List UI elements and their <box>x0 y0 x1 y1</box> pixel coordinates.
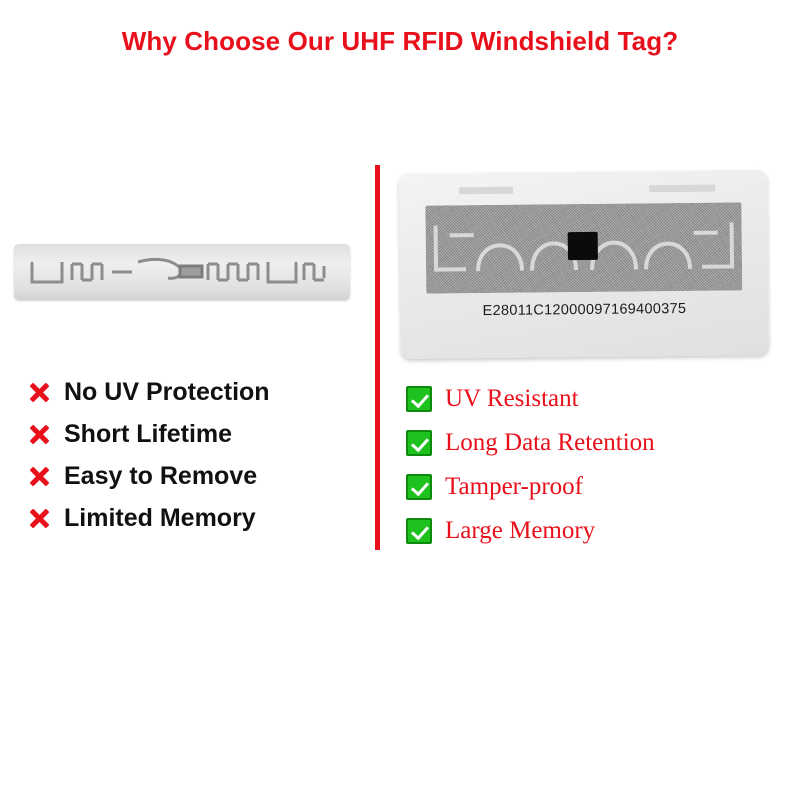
list-item-label: No UV Protection <box>64 378 270 407</box>
comparison-infographic: Why Choose Our UHF RFID Windshield Tag? <box>0 0 800 800</box>
list-item-label: Short Lifetime <box>64 420 232 449</box>
list-item-label: Long Data Retention <box>445 429 655 457</box>
list-item: Easy to Remove <box>26 459 356 493</box>
x-mark-icon <box>26 463 52 489</box>
windshield-tag-image: E28011C12000097169400375 <box>400 172 780 362</box>
uhf-rfid-windshield-tag: E28011C12000097169400375 <box>399 170 769 359</box>
left-column: No UV Protection Short Lifetime Easy to … <box>0 160 375 560</box>
list-item-label: Easy to Remove <box>64 462 257 491</box>
drawbacks-list: No UV Protection Short Lifetime Easy to … <box>26 375 356 543</box>
x-mark-icon <box>26 505 52 531</box>
list-item-label: UV Resistant <box>445 385 579 413</box>
list-item: Short Lifetime <box>26 417 356 451</box>
x-mark-icon <box>26 379 52 405</box>
list-item-label: Large Memory <box>445 517 595 545</box>
plain-rfid-inlay-tag <box>14 244 350 300</box>
check-mark-icon <box>406 518 432 544</box>
check-mark-icon <box>406 430 432 456</box>
list-item: Tamper-proof <box>406 470 796 504</box>
plain-tag-image <box>14 222 358 314</box>
benefits-list: UV Resistant Long Data Retention Tamper-… <box>406 382 796 558</box>
list-item-label: Limited Memory <box>64 504 256 533</box>
check-mark-icon <box>406 386 432 412</box>
label-strip-left <box>459 187 513 195</box>
list-item: UV Resistant <box>406 382 796 416</box>
list-item: Long Data Retention <box>406 426 796 460</box>
x-mark-icon <box>26 421 52 447</box>
list-item: Large Memory <box>406 514 796 548</box>
tag-serial-number: E28011C12000097169400375 <box>400 300 768 320</box>
check-mark-icon <box>406 474 432 500</box>
antenna-pattern-icon <box>28 256 336 288</box>
list-item-label: Tamper-proof <box>445 473 583 501</box>
rfid-chip <box>568 232 598 260</box>
page-title: Why Choose Our UHF RFID Windshield Tag? <box>0 26 800 57</box>
list-item: Limited Memory <box>26 501 356 535</box>
list-item: No UV Protection <box>26 375 356 409</box>
label-strip-right <box>649 185 715 193</box>
right-column: E28011C12000097169400375 UV Resistant Lo… <box>375 160 800 560</box>
